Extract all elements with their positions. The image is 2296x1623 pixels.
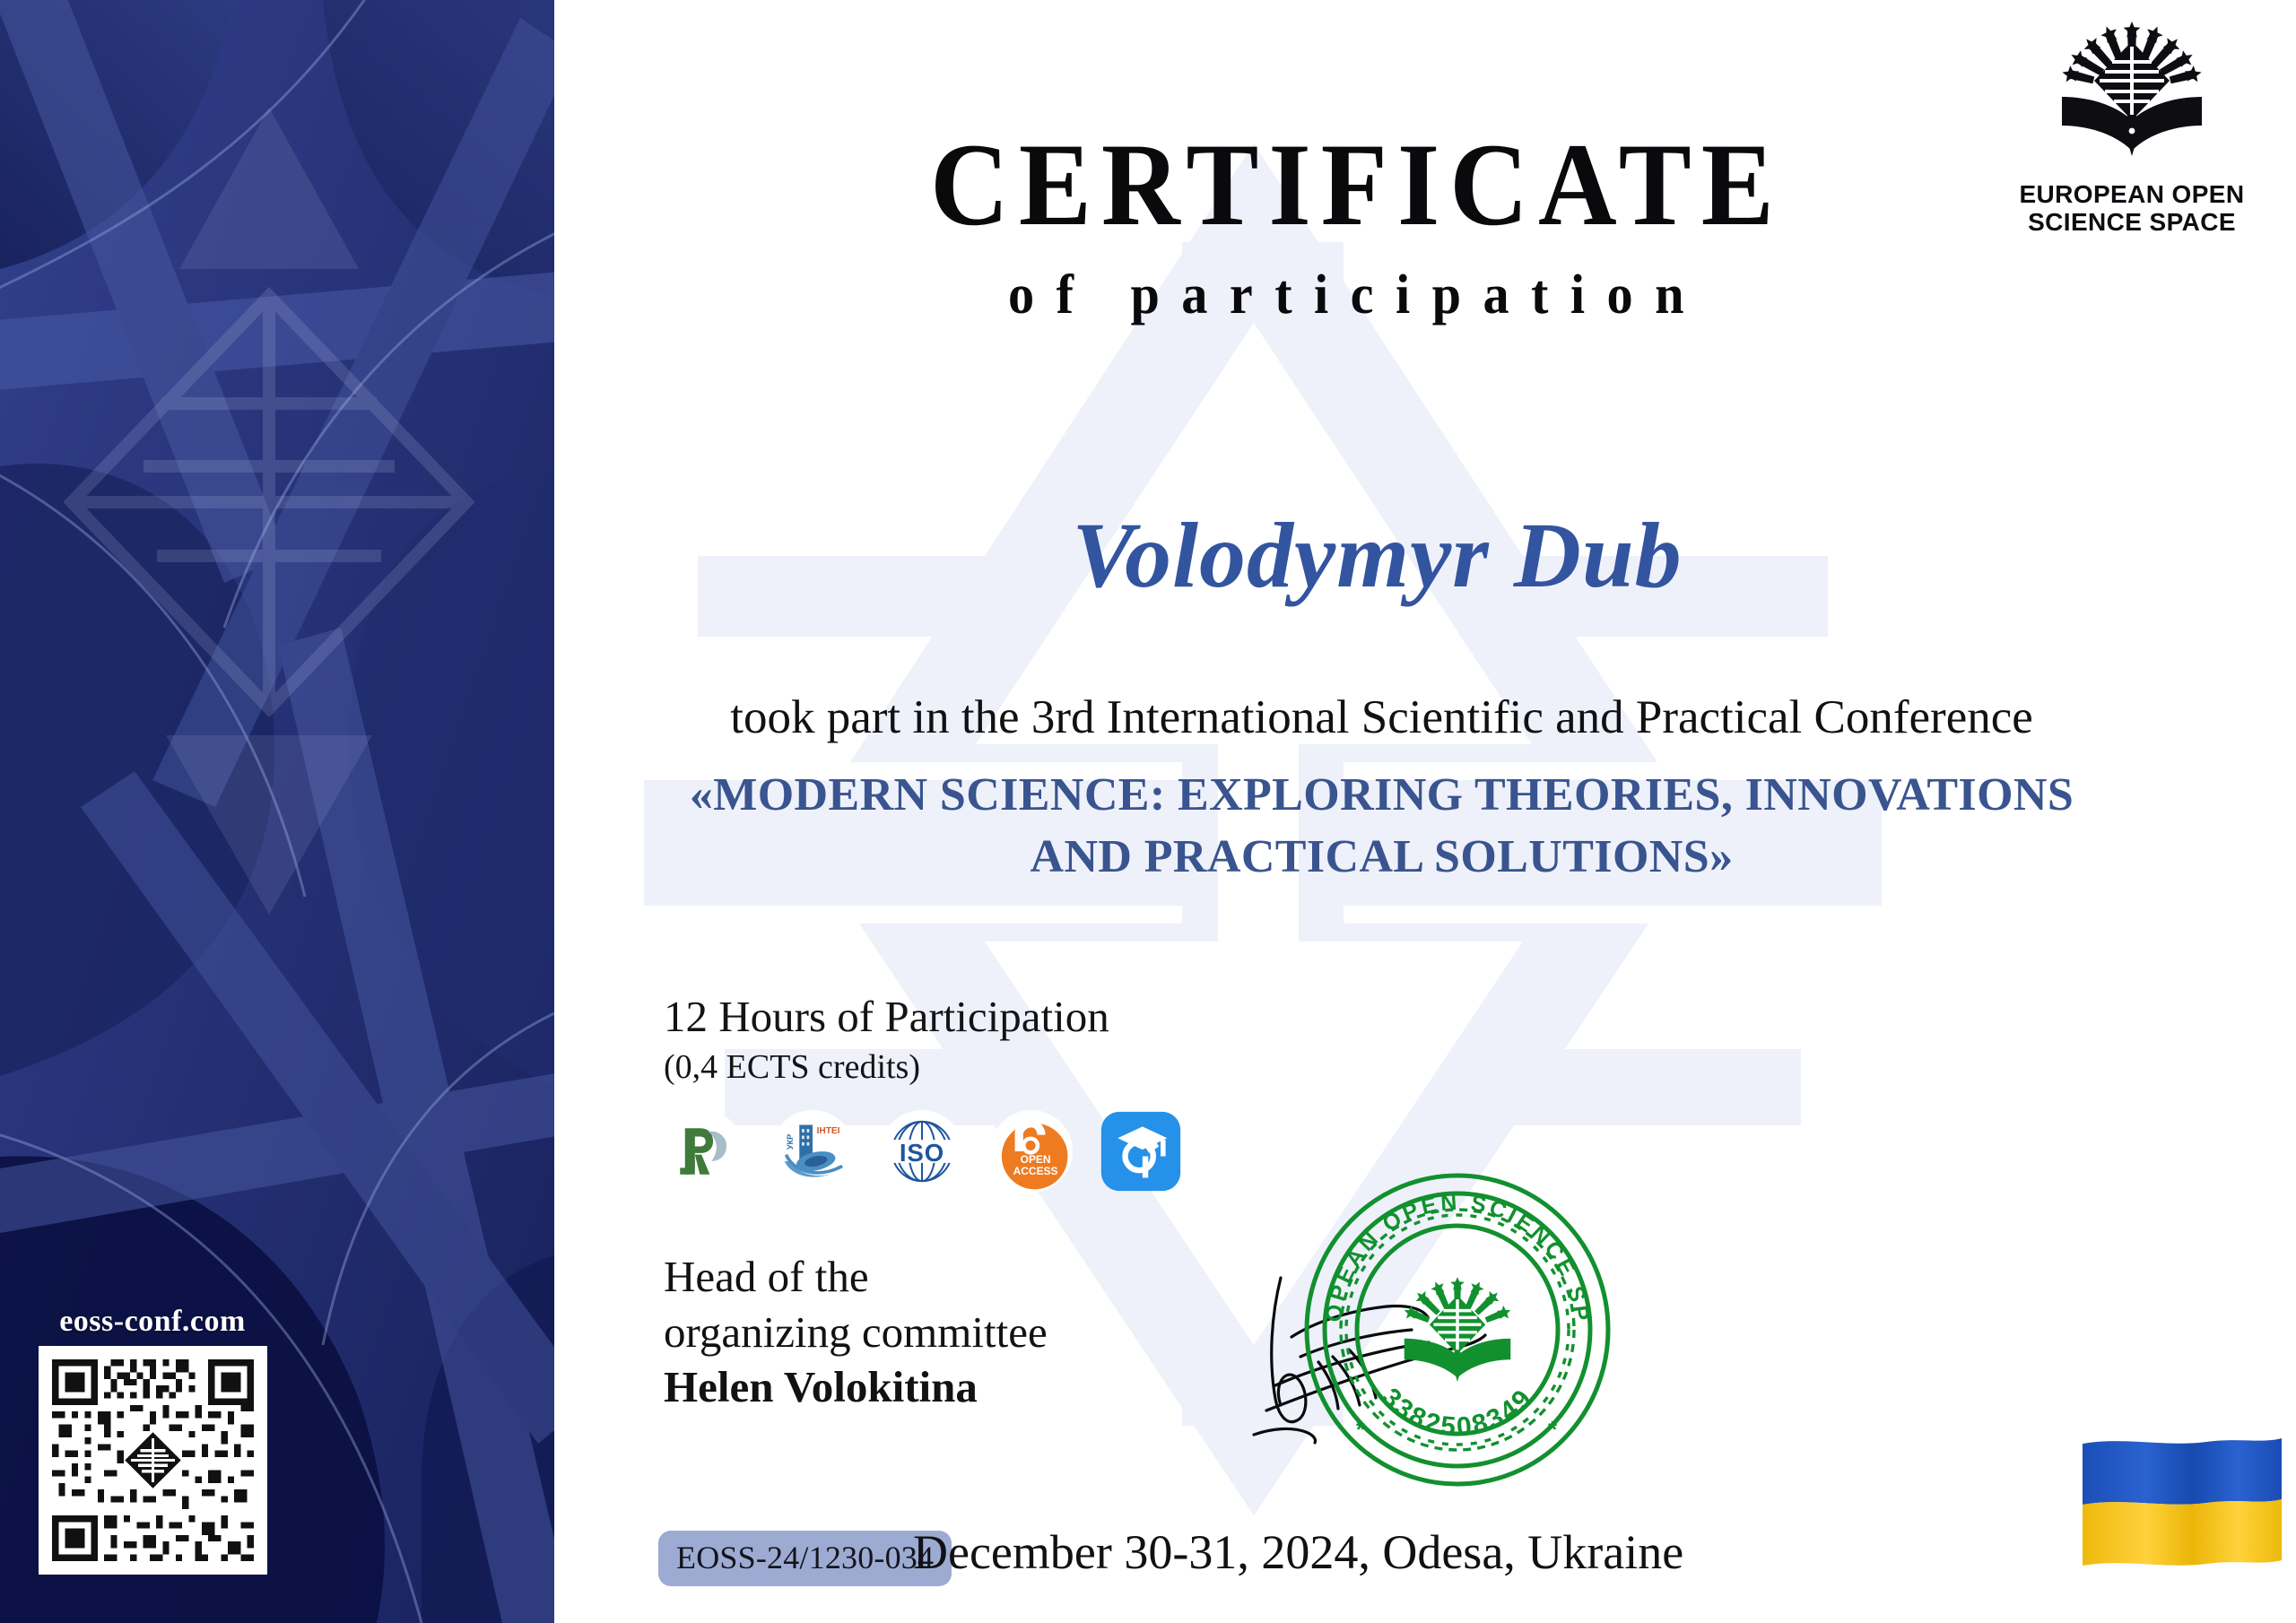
qr-block: eoss-conf.com xyxy=(27,1305,278,1575)
certificate-id-badge: EOSS-24/1230-034 xyxy=(658,1531,952,1586)
certificate-page: eoss-conf.com xyxy=(0,0,2296,1623)
svg-text:ІНТЕІ: ІНТЕІ xyxy=(817,1126,840,1136)
hours-of-participation: 12 Hours of Participation xyxy=(664,994,1109,1040)
conference-title: «MODERN SCIENCE: EXPLORING THEORIES, INN… xyxy=(554,764,2209,888)
svg-text:ACCESS: ACCESS xyxy=(1013,1165,1058,1177)
signer-name: Helen Volokitina xyxy=(664,1359,1048,1415)
page-title: CERTIFICATE xyxy=(619,126,2096,244)
conference-title-line-1: «MODERN SCIENCE: EXPLORING THEORIES, INN… xyxy=(554,764,2209,826)
certificate-title-block: CERTIFICATE of participation xyxy=(554,126,2160,323)
conference-title-line-2: AND PRACTICAL SOLUTIONS» xyxy=(554,826,2209,888)
qr-code-icon xyxy=(46,1353,260,1567)
researchbib-badge-icon[interactable] xyxy=(662,1110,744,1193)
page-subtitle: of participation xyxy=(603,267,2112,323)
certificate-content: EUROPEAN OPEN SCIENCE SPACE CERTIFICATE … xyxy=(554,0,2296,1623)
open-access-badge-icon[interactable]: OPEN ACCESS xyxy=(990,1110,1073,1193)
role-line-2: organizing committee xyxy=(664,1305,1048,1360)
qr-code[interactable] xyxy=(39,1346,267,1575)
decorative-left-panel: eoss-conf.com xyxy=(0,0,554,1623)
iso-badge-icon[interactable]: ISO xyxy=(881,1110,963,1193)
svg-text:УКР: УКР xyxy=(786,1134,795,1150)
ects-credits: (0,4 ECTS credits) xyxy=(664,1047,920,1087)
website-url: eoss-conf.com xyxy=(27,1305,278,1339)
recipient-name: Volodymyr Dub xyxy=(554,502,2200,609)
role-line-1: Head of the xyxy=(664,1249,1048,1305)
indexing-badges-row: УКР ІНТЕІ ISO xyxy=(662,1110,1182,1193)
svg-text:OPEN: OPEN xyxy=(1021,1153,1051,1166)
google-scholar-badge-icon[interactable] xyxy=(1100,1110,1182,1193)
ukraine-flag xyxy=(2079,1435,2285,1569)
eoss-stamp-icon: EUROPEAN OPEN SCIENCE SPACE 3382508349 *… xyxy=(1300,1172,1614,1488)
ukrintei-badge-icon[interactable]: УКР ІНТЕІ xyxy=(771,1110,854,1193)
stamp-star-left: * xyxy=(1356,1416,1366,1443)
svg-text:ISO: ISO xyxy=(900,1139,944,1167)
participation-line: took part in the 3rd International Scien… xyxy=(554,690,2209,744)
official-stamp: EUROPEAN OPEN SCIENCE SPACE 3382508349 *… xyxy=(1300,1172,1614,1488)
signature-block: Head of the organizing committee Helen V… xyxy=(664,1249,1048,1415)
ukraine-flag-icon xyxy=(2079,1435,2285,1569)
date-location: December 30-31, 2024, Odesa, Ukraine xyxy=(913,1524,1683,1580)
stamp-star-right: * xyxy=(1548,1416,1558,1443)
